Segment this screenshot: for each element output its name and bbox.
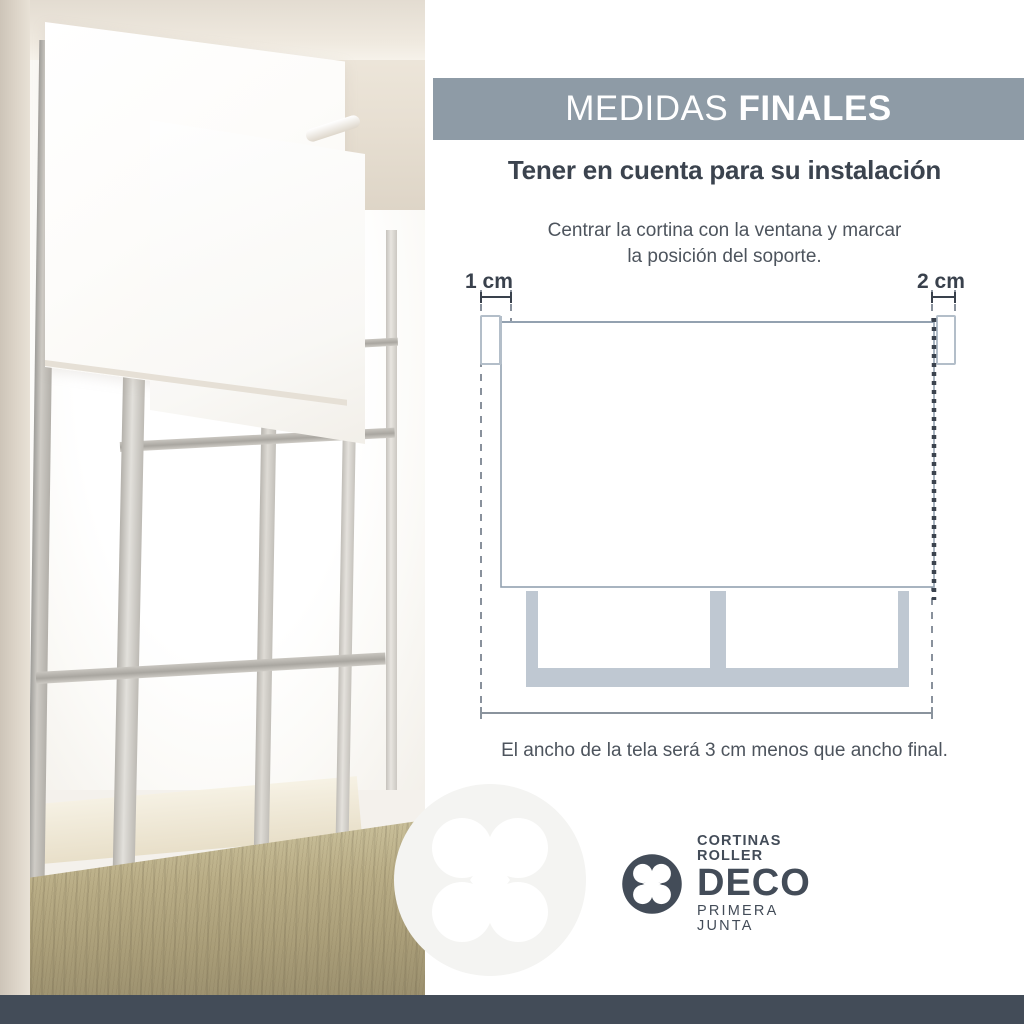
logo-wordmark: CORTINAS ROLLER DECO PRIMERA JUNTA [697, 834, 836, 934]
deco-emblem-icon [621, 853, 683, 915]
bracket-right [937, 316, 955, 364]
infographic-canvas: MEDIDAS FINALES Tener en cuenta para su … [0, 0, 1024, 1024]
window-post-5 [386, 230, 397, 790]
wall-left [0, 0, 30, 995]
installation-diagram [425, 0, 1024, 760]
footer-bar [0, 995, 1024, 1024]
deco-watermark-icon [390, 780, 590, 980]
logo-main-line: DECO [697, 865, 836, 902]
content-panel: MEDIDAS FINALES Tener en cuenta para su … [425, 0, 1024, 995]
measure-tick-right [932, 292, 955, 303]
window-photo [0, 0, 425, 995]
logo-bottom-line: PRIMERA JUNTA [697, 904, 836, 934]
bottom-note: El ancho de la tela será 3 cm menos que … [425, 740, 1024, 762]
brand-logo: CORTINAS ROLLER DECO PRIMERA JUNTA [621, 848, 836, 920]
logo-top-line: CORTINAS ROLLER [697, 834, 836, 864]
window-pane-right [726, 591, 898, 668]
blind-fabric-panel [501, 322, 934, 587]
roller-blind-fabric-lower [150, 120, 365, 444]
measure-tick-left [481, 292, 511, 303]
bracket-left [481, 316, 500, 364]
window-pane-left [538, 591, 710, 668]
